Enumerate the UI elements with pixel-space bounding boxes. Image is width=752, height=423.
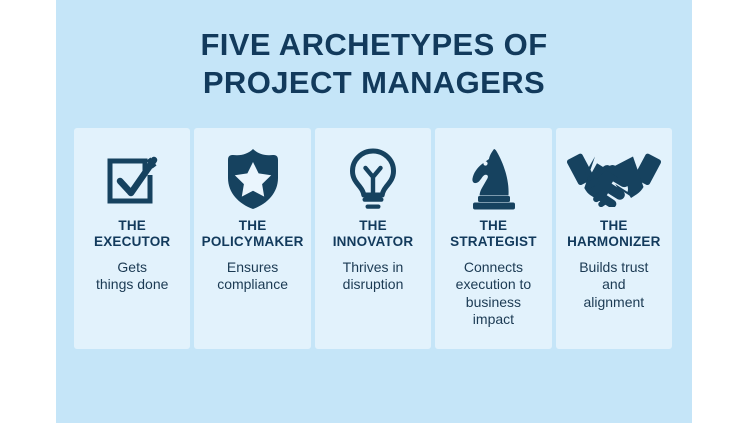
handshake-icon — [565, 144, 663, 214]
archetype-title: THE STRATEGIST — [450, 218, 537, 250]
archetype-card-harmonizer[interactable]: THE HARMONIZER Builds trust and alignmen… — [556, 128, 672, 349]
lightbulb-icon — [343, 144, 403, 214]
archetype-card-policymaker[interactable]: THE POLICYMAKER Ensures compliance — [194, 128, 310, 349]
archetype-description: Builds trust and alignment — [575, 259, 652, 312]
archetype-title: THE POLICYMAKER — [202, 218, 304, 250]
archetype-title: THE EXECUTOR — [94, 218, 170, 250]
page-title: FIVE ARCHETYPES OF PROJECT MANAGERS — [56, 26, 692, 102]
page-title-line-1: FIVE ARCHETYPES OF — [56, 26, 692, 64]
archetype-description: Ensures compliance — [213, 259, 292, 294]
archetype-description: Connects execution to business impact — [452, 259, 536, 329]
archetype-card-innovator[interactable]: THE INNOVATOR Thrives in disruption — [315, 128, 431, 349]
page-title-line-2: PROJECT MANAGERS — [56, 64, 692, 102]
checkbox-check-icon — [101, 144, 163, 214]
archetype-title: THE INNOVATOR — [333, 218, 414, 250]
infographic-canvas: FIVE ARCHETYPES OF PROJECT MANAGERS THE … — [0, 0, 752, 423]
archetype-description: Thrives in disruption — [339, 259, 408, 294]
archetype-title: THE HARMONIZER — [567, 218, 661, 250]
chess-knight-icon — [464, 144, 522, 214]
shield-star-icon — [224, 144, 282, 214]
archetype-card-executor[interactable]: THE EXECUTOR Gets things done — [74, 128, 190, 349]
archetype-card-strategist[interactable]: THE STRATEGIST Connects execution to bus… — [435, 128, 551, 349]
archetype-description: Gets things done — [92, 259, 172, 294]
archetype-card-row: THE EXECUTOR Gets things done THE POLICY… — [74, 128, 672, 349]
